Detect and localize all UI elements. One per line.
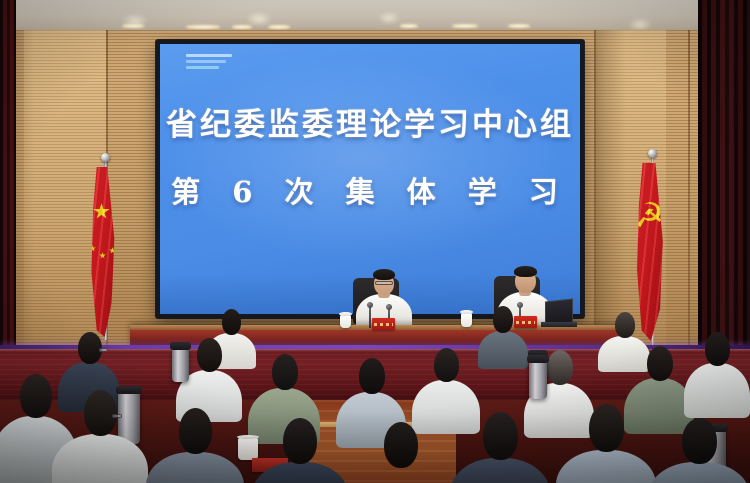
laptop-base [541,322,577,327]
speaker-glasses [375,281,393,285]
flag-finial-icon [648,149,657,158]
audience-member-foreground [252,416,348,483]
audience-head [84,390,117,436]
audience-member-foreground [648,416,750,483]
teacup-left [340,315,351,328]
audience-body [252,462,348,483]
screen-title-line1: 省纪委监委理论学习中心组 [160,108,580,142]
audience-body [146,452,244,483]
flag-star-large [93,203,110,220]
audience-member [684,330,750,416]
ceiling-light [268,25,290,29]
audience-member-foreground [556,402,656,483]
audience-head [647,346,673,381]
audience-glasses [112,414,122,418]
audience-head [222,309,241,335]
ceiling-light-glow [122,14,148,28]
ceiling-light [186,25,220,29]
nameplate-left [372,318,395,330]
thermos-cap [527,355,549,363]
thermos-flask [172,348,189,382]
speaker-hair [373,269,395,280]
ceiling-light [232,25,252,29]
teacup-lid [460,310,473,314]
audience-head [384,422,418,468]
national-flag [98,160,112,340]
audience-body [684,363,750,418]
audience-member-foreground [450,410,550,483]
audience-head [197,338,222,372]
audience-head [547,350,573,385]
wall-light-wash [24,30,106,360]
ceiling-light [400,24,418,28]
audience-body [478,331,528,369]
audience-member-foreground [52,388,148,483]
conference-photo: 省纪委监委理论学习中心组 第 6 次 集 体 学 习 ☭ [0,0,750,483]
audience-head [483,412,518,460]
audience-head [359,358,385,394]
audience-head [493,306,513,333]
audience-body [648,462,750,483]
thermos-flask [529,361,547,399]
ceiling-light-glow [378,12,400,24]
teacup-lid [339,312,352,316]
wall-seam [688,30,690,360]
screen-decoration-lines [186,54,234,72]
thermos-cap [170,342,191,350]
flag-finial-icon [101,153,110,162]
audience-body [52,434,148,483]
speaker-hair [514,266,537,277]
flag-star-small [99,252,106,259]
audience-head [682,418,717,464]
audience-head [589,404,624,452]
audience-body [450,458,550,483]
ceiling-light [452,24,478,28]
audience-head [283,418,317,464]
teacup-right [461,313,472,327]
audience-glasses [99,348,108,352]
ceiling-light [508,24,530,28]
ceiling-light-glow [246,12,272,26]
microphone-left [369,306,371,328]
audience-body [556,450,656,483]
screen-title-line2: 第 6 次 集 体 学 习 [160,169,580,211]
audience-body [352,466,450,483]
audience-member-foreground [352,420,450,483]
audience-head [705,332,730,366]
audience-head [434,348,459,382]
audience-head [20,374,52,418]
audience-head [615,312,635,338]
audience-head [179,408,212,454]
audience-member-foreground [146,406,244,483]
audience-head [272,354,298,390]
audience-member [478,303,528,367]
